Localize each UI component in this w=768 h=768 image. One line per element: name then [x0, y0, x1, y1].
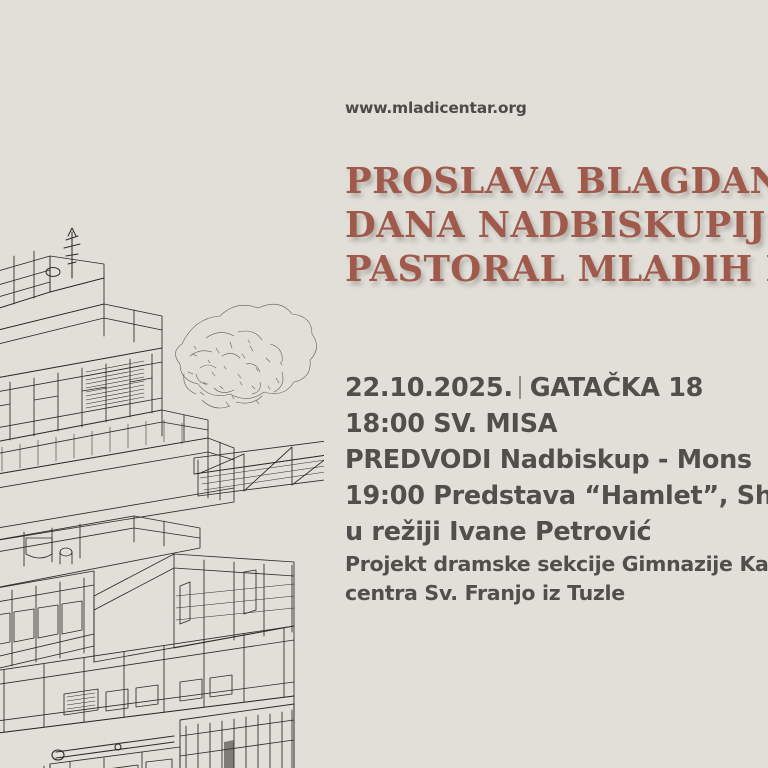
tree-foliage: [175, 304, 316, 408]
separator-bar: [519, 376, 521, 399]
poster-canvas: www.mladicentar.org PROSLAVA BLAGDANA DA…: [0, 0, 768, 768]
detail-credit-line-1: Projekt dramske sekcije Gimnazije Ka: [345, 550, 768, 579]
gate-louvre-screen: [180, 704, 294, 768]
event-details-block: 22.10.2025.GATAČKA 18 18:00 SV. MISA PRE…: [345, 370, 768, 608]
detail-celebrant: PREDVODI Nadbiskup - Mons: [345, 442, 768, 478]
mid-terrace-block: [0, 516, 200, 592]
headline-line-2: DANA NADBISKUPIJSKO: [345, 204, 768, 248]
ground-floor-facade: [0, 626, 294, 736]
second-tier-slab: [0, 304, 162, 382]
event-venue: GATAČKA 18: [530, 373, 703, 403]
headline-line-3: PASTORAL MLADIH IVA: [345, 248, 768, 292]
entrance-canopy-beam: [52, 736, 174, 760]
detail-credit-line-2: centra Sv. Franjo iz Tuzle: [345, 579, 768, 608]
detail-play: 19:00 Predstava “Hamlet”, Sh: [345, 478, 768, 514]
lower-facade-band: [0, 571, 94, 674]
canopy-slab: [0, 410, 208, 478]
headline-block: PROSLAVA BLAGDANA DANA NADBISKUPIJSKO PA…: [345, 160, 768, 292]
main-slab: [0, 438, 234, 544]
detail-director: u režiji Ivane Petrović: [345, 514, 768, 550]
entrance-recess: [0, 696, 294, 768]
architectural-line-drawing: [0, 196, 324, 768]
headline-line-1: PROSLAVA BLAGDANA: [345, 160, 768, 204]
detail-mass-time: 18:00 SV. MISA: [345, 406, 768, 442]
penthouse-block: [0, 251, 104, 336]
upper-window-band: [0, 348, 162, 446]
angled-wing: [94, 554, 294, 662]
detail-date-venue: 22.10.2025.GATAČKA 18: [345, 370, 768, 406]
website-url[interactable]: www.mladicentar.org: [345, 99, 527, 117]
roof-antenna: [46, 228, 80, 278]
event-date: 22.10.2025.: [345, 373, 513, 403]
building-sketch-svg: [0, 196, 324, 768]
rooftop-pergola: [194, 440, 324, 496]
